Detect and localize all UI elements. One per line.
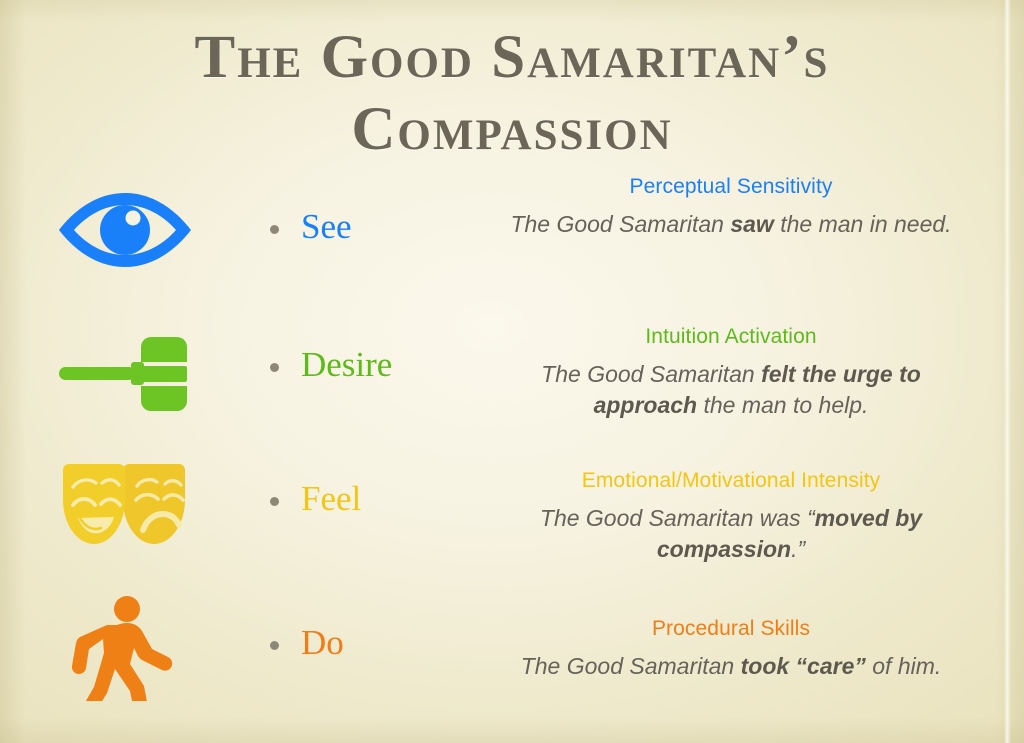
category-heading-do: Procedural Skills	[498, 616, 964, 642]
bullet-dot	[270, 363, 279, 372]
page-title: The Good Samaritan’s Compassion	[0, 22, 1024, 166]
bullet-label-feel: Feel	[301, 480, 361, 518]
category-heading-feel: Emotional/Motivational Intensity	[498, 468, 964, 494]
content-row-desire: Desire Intuition Activation The Good Sam…	[0, 302, 1024, 452]
bullet-item-feel[interactable]: Feel	[270, 438, 500, 558]
example-suffix: of him.	[866, 653, 941, 679]
bullet-label-desire: Desire	[301, 346, 392, 384]
bullet-dot	[270, 641, 279, 650]
bullet-label-do: Do	[301, 624, 344, 662]
example-text-desire: The Good Samaritan felt the urge to appr…	[498, 359, 964, 421]
text-cell-do: Procedural Skills The Good Samaritan too…	[498, 616, 964, 682]
slide-canvas: The Good Samaritan’s Compassion See Perc…	[0, 0, 1024, 743]
content-row-see: See Perceptual Sensitivity The Good Sama…	[0, 168, 1024, 318]
content-row-feel: Feel Emotional/Motivational Intensity Th…	[0, 438, 1024, 588]
bullet-item-see[interactable]: See	[270, 168, 500, 288]
gavel-icon	[30, 314, 220, 434]
example-suffix: .”	[791, 536, 805, 562]
text-cell-desire: Intuition Activation The Good Samaritan …	[498, 324, 964, 421]
bullet-item-do[interactable]: Do	[270, 578, 500, 698]
example-emphasis: took “care”	[741, 653, 866, 679]
page-title-line-2: Compassion	[0, 94, 1024, 166]
bullet-dot	[270, 497, 279, 506]
example-suffix: the man to help.	[697, 392, 868, 418]
text-cell-feel: Emotional/Motivational Intensity The Goo…	[498, 468, 964, 565]
example-prefix: The Good Samaritan	[541, 361, 761, 387]
walking-person-icon	[30, 588, 220, 708]
bullet-item-desire[interactable]: Desire	[270, 302, 500, 422]
bullet-label-see: See	[301, 208, 352, 246]
example-text-see: The Good Samaritan saw the man in need.	[498, 209, 964, 240]
example-prefix: The Good Samaritan was “	[540, 505, 815, 531]
category-heading-desire: Intuition Activation	[498, 324, 964, 350]
content-row-do: Do Procedural Skills The Good Samaritan …	[0, 578, 1024, 728]
theater-masks-icon	[30, 444, 220, 564]
example-emphasis: saw	[730, 211, 773, 237]
example-suffix: the man in need.	[774, 211, 952, 237]
text-cell-see: Perceptual Sensitivity The Good Samarita…	[498, 174, 964, 240]
bullet-dot	[270, 225, 279, 234]
example-text-do: The Good Samaritan took “care” of him.	[498, 651, 964, 682]
example-text-feel: The Good Samaritan was “moved by compass…	[498, 503, 964, 565]
eye-icon	[30, 170, 220, 290]
example-prefix: The Good Samaritan	[521, 653, 741, 679]
example-prefix: The Good Samaritan	[510, 211, 730, 237]
category-heading-see: Perceptual Sensitivity	[498, 174, 964, 200]
page-title-line-1: The Good Samaritan’s	[0, 22, 1024, 94]
